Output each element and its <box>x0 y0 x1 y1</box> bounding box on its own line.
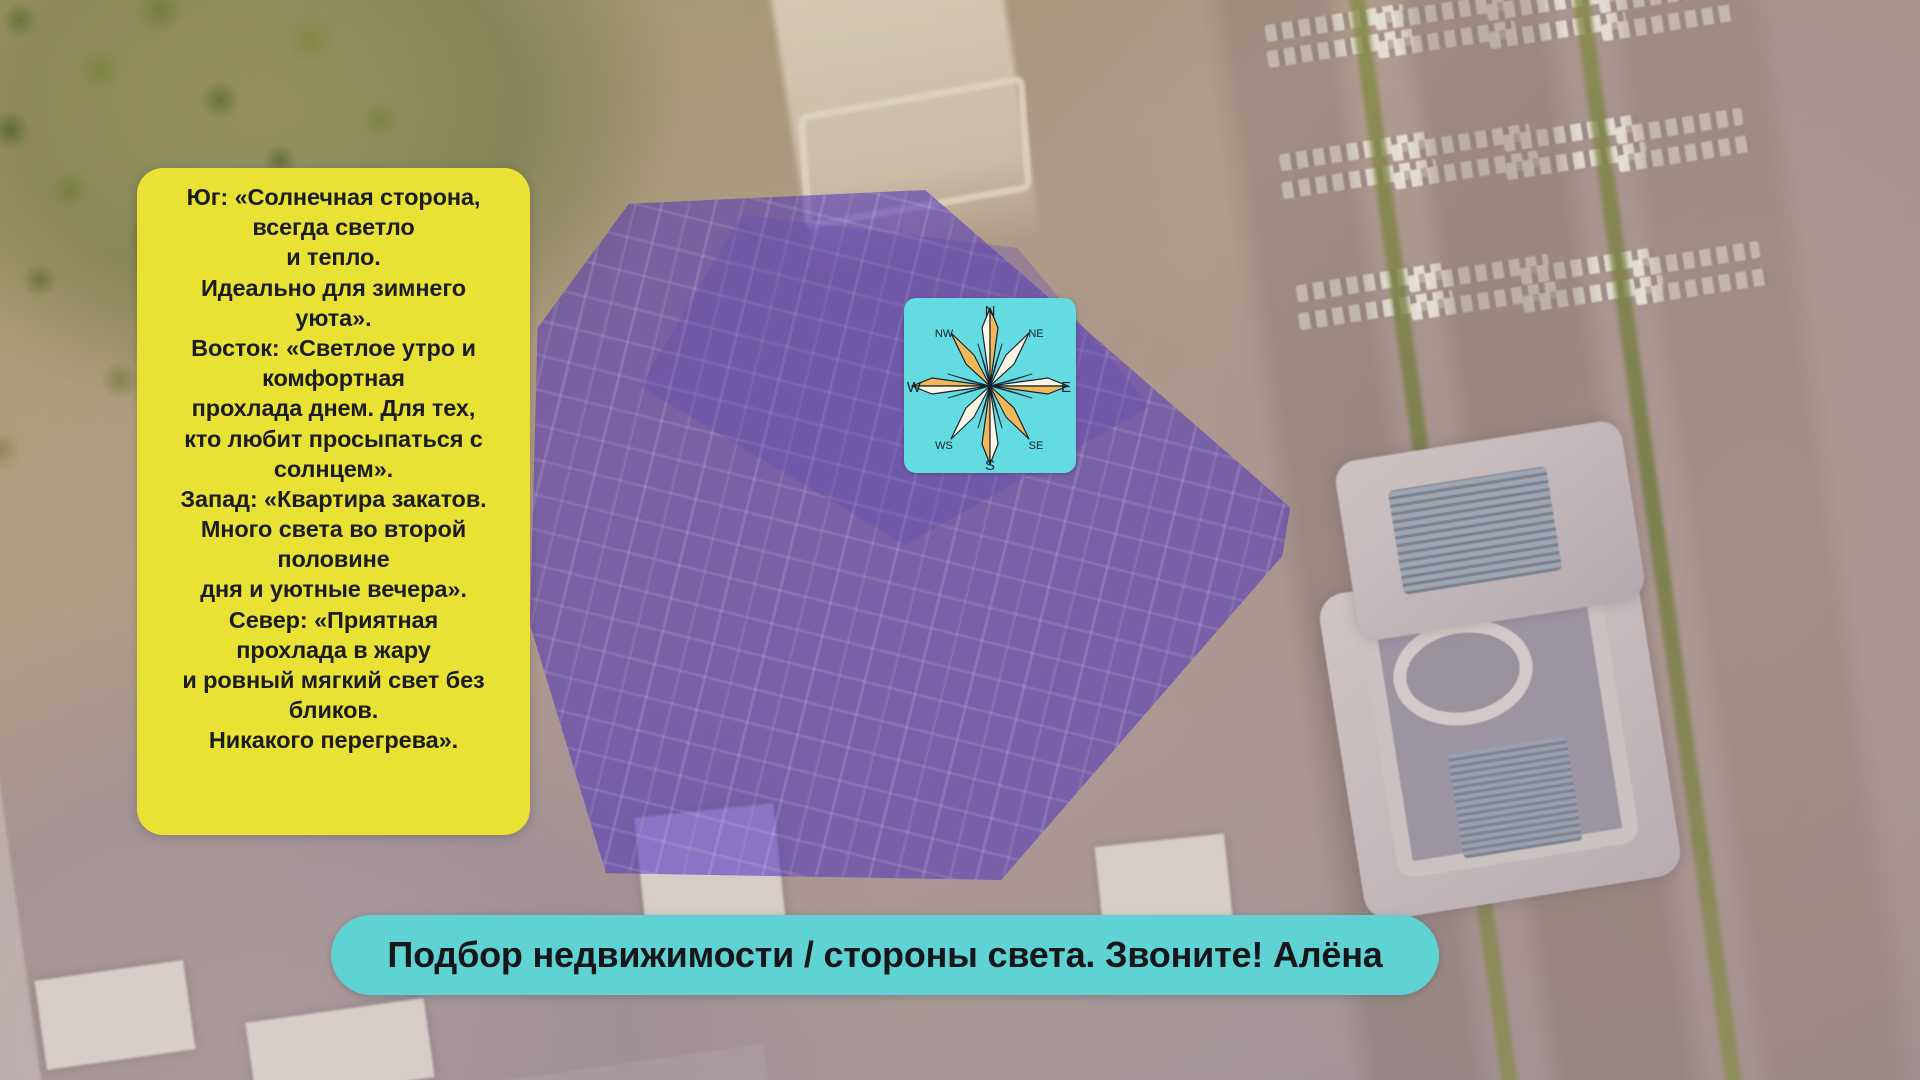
compass-label-s: S <box>985 457 995 473</box>
orientation-info-card: Юг: «Солнечная сторона, всегда светло и … <box>137 168 530 835</box>
cta-banner[interactable]: Подбор недвижимости / стороны света. Зво… <box>331 915 1439 995</box>
compass-label-se: SE <box>1029 440 1044 452</box>
compass-label-n: N <box>985 303 996 320</box>
cta-banner-text: Подбор недвижимости / стороны света. Зво… <box>387 934 1382 976</box>
compass-label-ws: WS <box>935 440 953 452</box>
poster-canvas: Юг: «Солнечная сторона, всегда светло и … <box>0 0 1920 1080</box>
compass-label-e: E <box>1061 379 1071 396</box>
compass-rose-card: N S W E NW NE WS SE <box>904 298 1076 473</box>
compass-label-nw: NW <box>935 328 954 340</box>
compass-rose-icon: N S W E NW NE WS SE <box>904 298 1076 473</box>
orientation-info-text: Юг: «Солнечная сторона, всегда светло и … <box>180 182 486 756</box>
compass-label-w: W <box>907 379 922 396</box>
compass-label-ne: NE <box>1028 328 1043 340</box>
neighbour-roof-panel <box>1448 736 1583 858</box>
